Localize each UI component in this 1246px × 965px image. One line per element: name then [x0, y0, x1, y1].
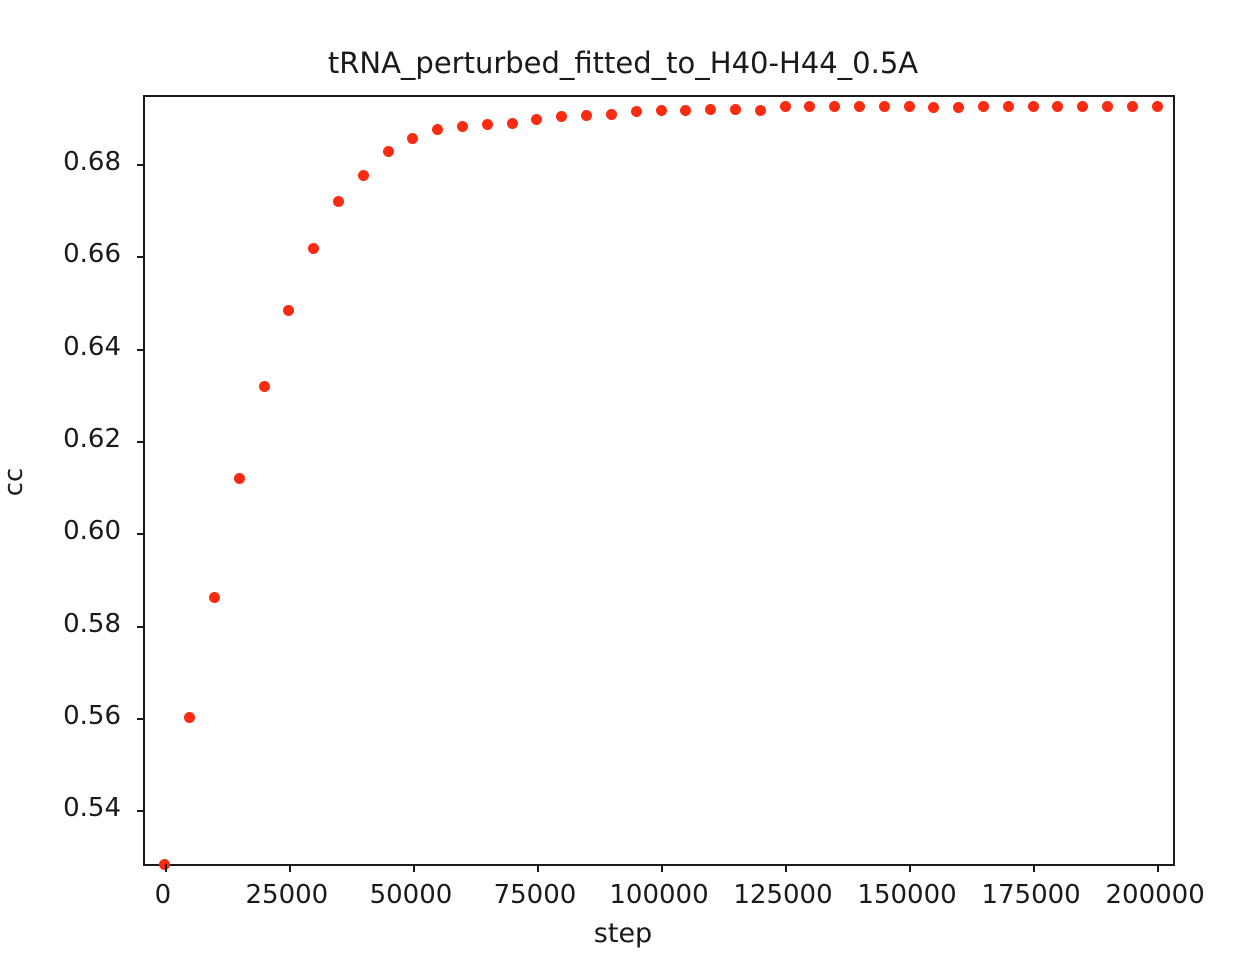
data-point — [209, 592, 220, 603]
x-tick-mark — [537, 864, 539, 872]
data-point — [432, 124, 443, 135]
x-tick-label: 75000 — [425, 880, 645, 910]
data-point — [854, 101, 865, 112]
y-tick-label: 0.56 — [0, 701, 121, 731]
data-point — [234, 473, 245, 484]
data-point — [904, 101, 915, 112]
data-point — [953, 102, 964, 113]
data-point — [457, 121, 468, 132]
x-tick-label: 50000 — [301, 880, 521, 910]
x-tick-label: 150000 — [797, 880, 1017, 910]
x-tick-label: 25000 — [177, 880, 397, 910]
x-tick-mark — [1157, 864, 1159, 872]
data-point — [631, 106, 642, 117]
y-tick-mark — [137, 533, 145, 535]
data-point — [978, 101, 989, 112]
data-point — [1003, 101, 1014, 112]
x-tick-label: 175000 — [921, 880, 1141, 910]
data-point — [1102, 101, 1113, 112]
x-tick-mark — [909, 864, 911, 872]
data-point — [581, 110, 592, 121]
y-tick-mark — [137, 810, 145, 812]
data-point — [680, 105, 691, 116]
data-point — [656, 105, 667, 116]
data-point — [407, 133, 418, 144]
y-tick-mark — [137, 164, 145, 166]
x-tick-mark — [1033, 864, 1035, 872]
y-tick-mark — [137, 256, 145, 258]
data-point — [730, 104, 741, 115]
y-tick-label: 0.54 — [0, 793, 121, 823]
data-point — [358, 170, 369, 181]
y-tick-label: 0.62 — [0, 424, 121, 454]
chart-title: tRNA_perturbed_fitted_to_H40-H44_0.5A — [0, 46, 1246, 80]
data-point — [308, 243, 319, 254]
data-point — [804, 101, 815, 112]
data-point — [755, 105, 766, 116]
x-tick-label: 0 — [53, 880, 273, 910]
data-point — [780, 101, 791, 112]
x-tick-mark — [785, 864, 787, 872]
y-tick-mark — [137, 349, 145, 351]
scatter-series — [145, 97, 1173, 864]
data-point — [829, 101, 840, 112]
data-point — [705, 104, 716, 115]
data-point — [879, 101, 890, 112]
y-axis-label: cc — [0, 468, 29, 497]
plot-area — [143, 95, 1175, 866]
y-tick-mark — [137, 441, 145, 443]
x-axis-label: step — [0, 918, 1246, 949]
data-point — [531, 114, 542, 125]
data-point — [606, 109, 617, 120]
data-point — [1028, 101, 1039, 112]
y-tick-label: 0.58 — [0, 609, 121, 639]
x-tick-mark — [661, 864, 663, 872]
y-tick-label: 0.68 — [0, 147, 121, 177]
x-tick-mark — [165, 864, 167, 872]
y-tick-mark — [137, 626, 145, 628]
x-tick-mark — [289, 864, 291, 872]
chart-figure: tRNA_perturbed_fitted_to_H40-H44_0.5A 0.… — [0, 0, 1246, 965]
x-tick-label: 200000 — [1045, 880, 1246, 910]
y-tick-label: 0.64 — [0, 332, 121, 362]
data-point — [1152, 101, 1163, 112]
data-point — [482, 119, 493, 130]
data-point — [928, 102, 939, 113]
data-point — [283, 305, 294, 316]
data-point — [556, 111, 567, 122]
data-point — [507, 118, 518, 129]
x-tick-label: 100000 — [549, 880, 769, 910]
x-tick-label: 125000 — [673, 880, 893, 910]
data-point — [1127, 101, 1138, 112]
data-point — [1077, 101, 1088, 112]
data-point — [333, 196, 344, 207]
data-point — [1052, 101, 1063, 112]
y-tick-mark — [137, 718, 145, 720]
data-point — [259, 381, 270, 392]
x-tick-mark — [413, 864, 415, 872]
y-tick-label: 0.66 — [0, 239, 121, 269]
y-tick-label: 0.60 — [0, 516, 121, 546]
data-point — [184, 712, 195, 723]
data-point — [383, 146, 394, 157]
